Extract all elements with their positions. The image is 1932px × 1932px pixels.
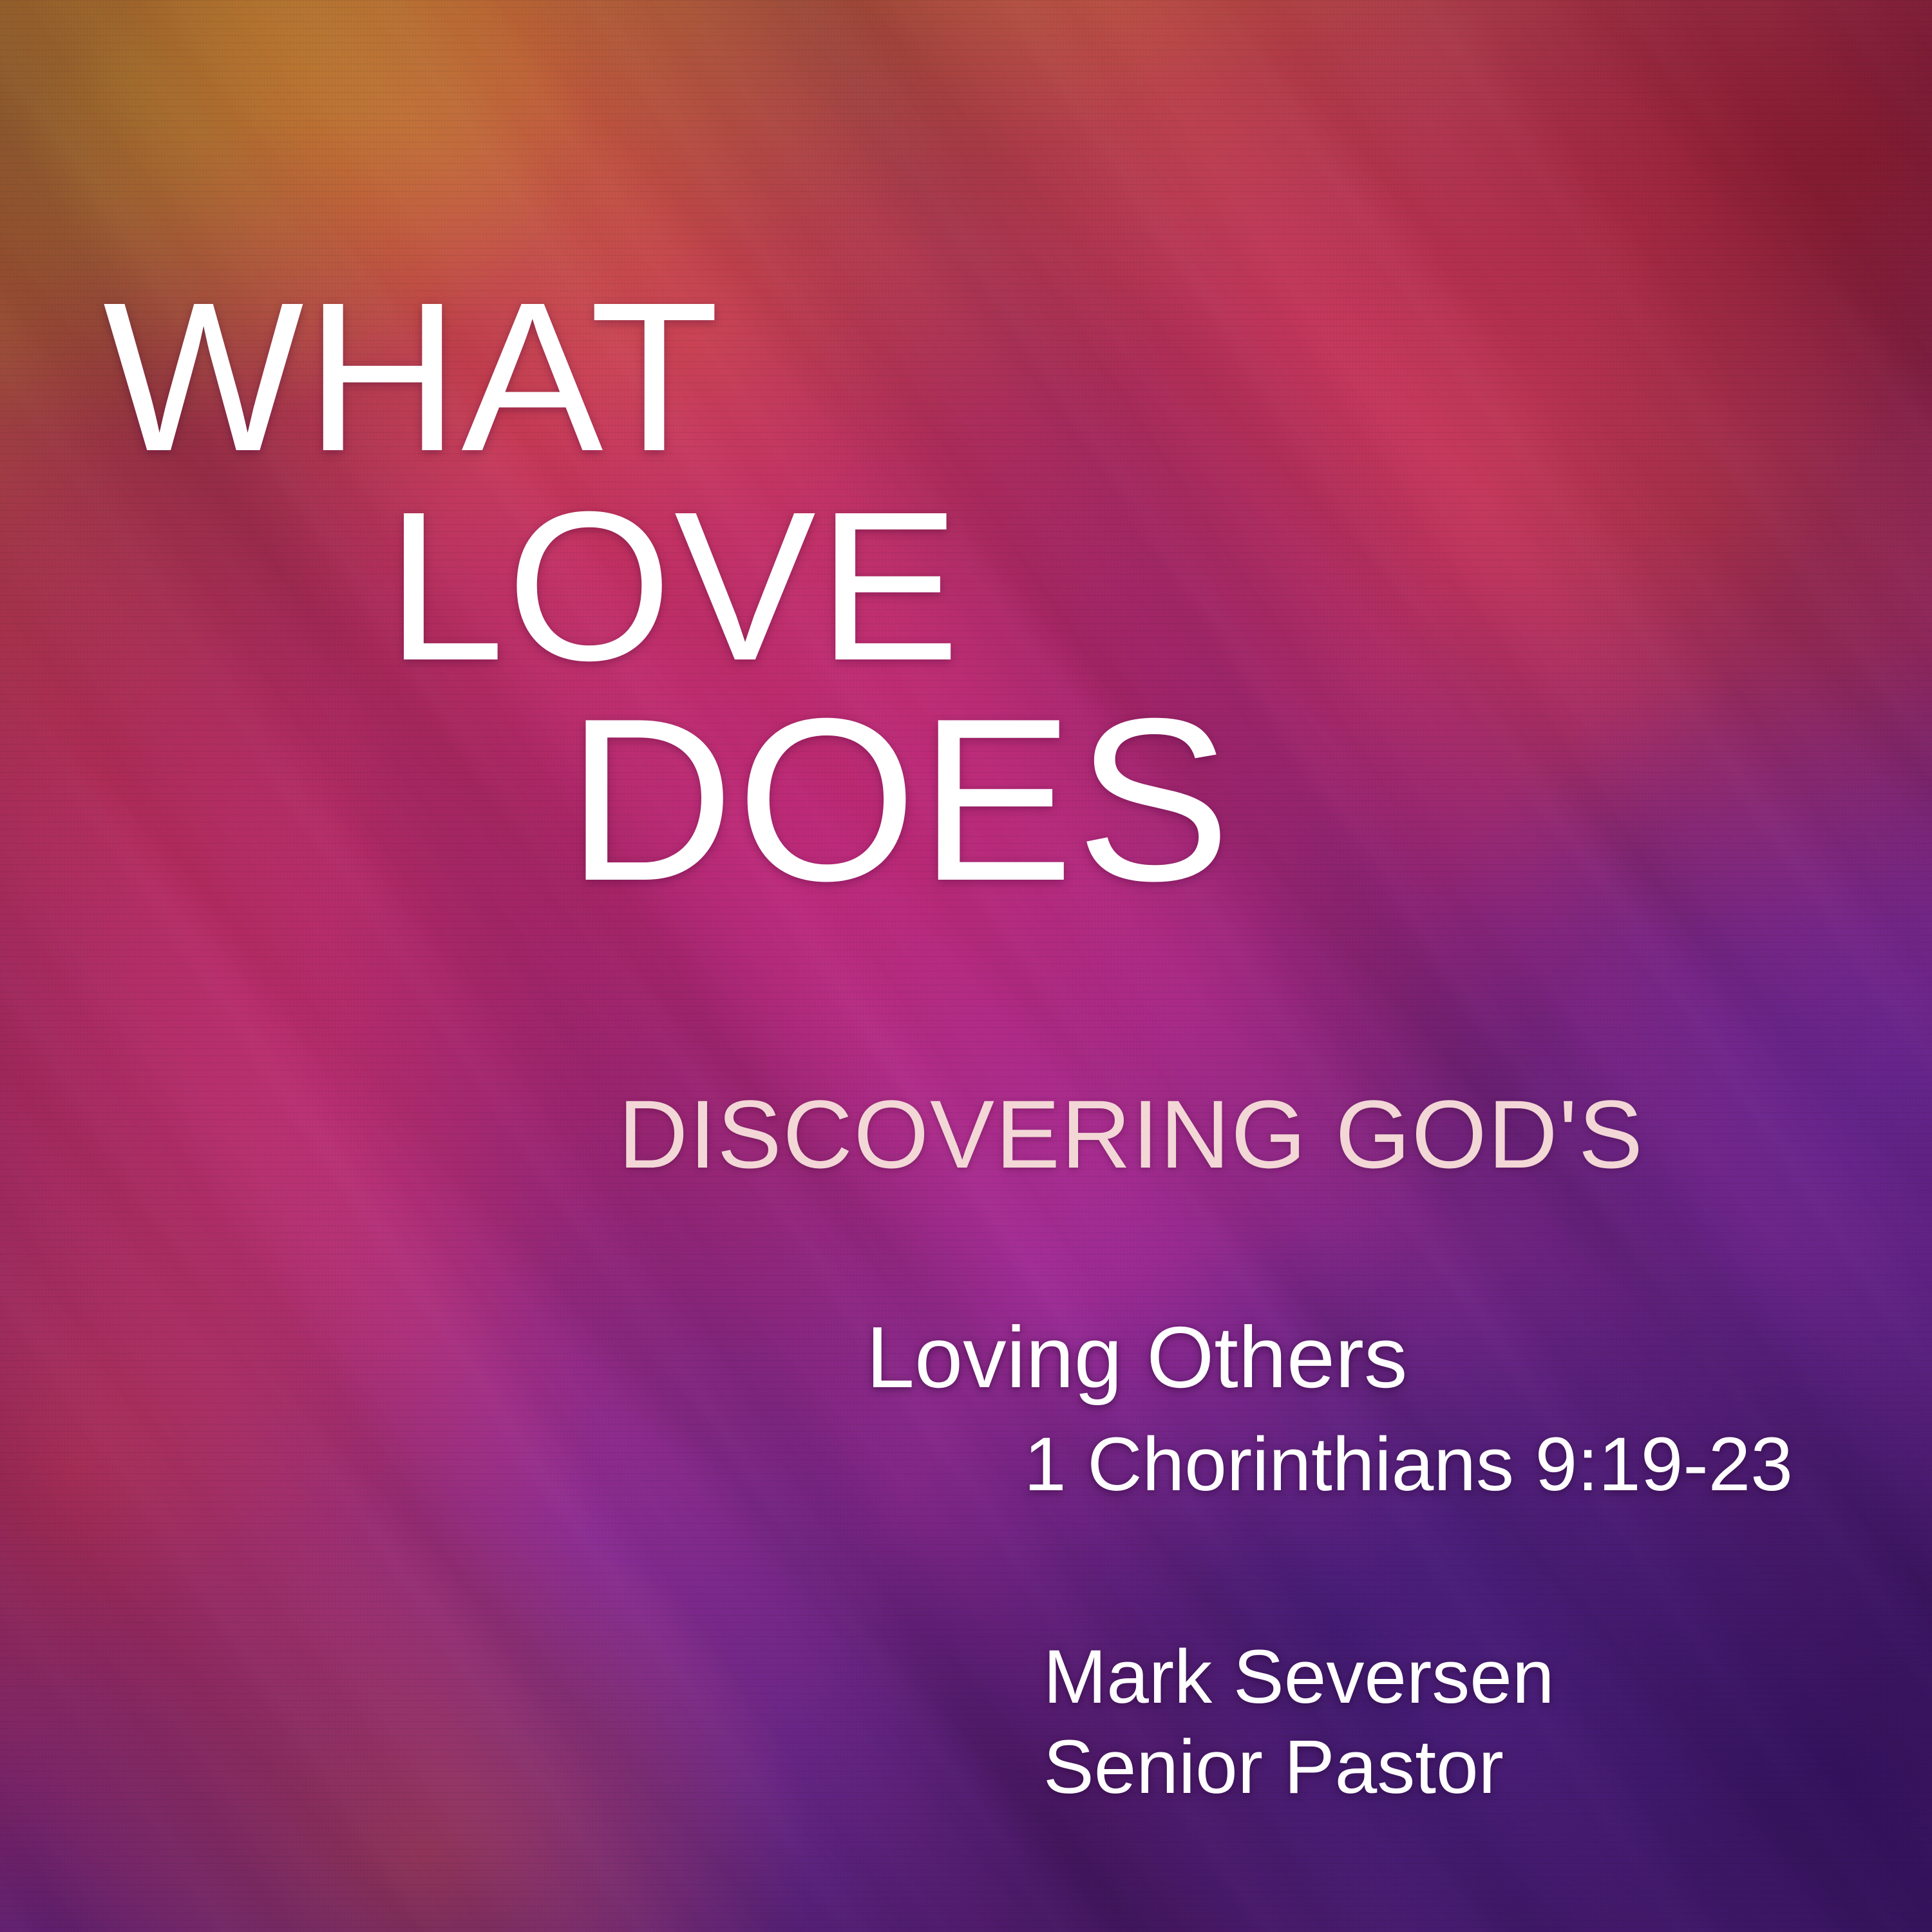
- sermon-title-slide: WHAT LOVE DOES DISCOVERING GOD'S Loving …: [0, 0, 1932, 1932]
- speaker-role: Senior Pastor: [1043, 1729, 1504, 1805]
- series-title-line-1: WHAT: [103, 270, 721, 483]
- series-title-line-2: LOVE: [386, 480, 962, 692]
- speaker-name: Mark Seversen: [1043, 1639, 1555, 1715]
- series-subtitle: DISCOVERING GOD'S: [618, 1086, 1644, 1182]
- series-title-line-3: DOES: [567, 684, 1233, 916]
- scripture-reference: 1 Chorinthians 9:19-23: [1024, 1426, 1793, 1502]
- sermon-title: Loving Others: [866, 1314, 1407, 1401]
